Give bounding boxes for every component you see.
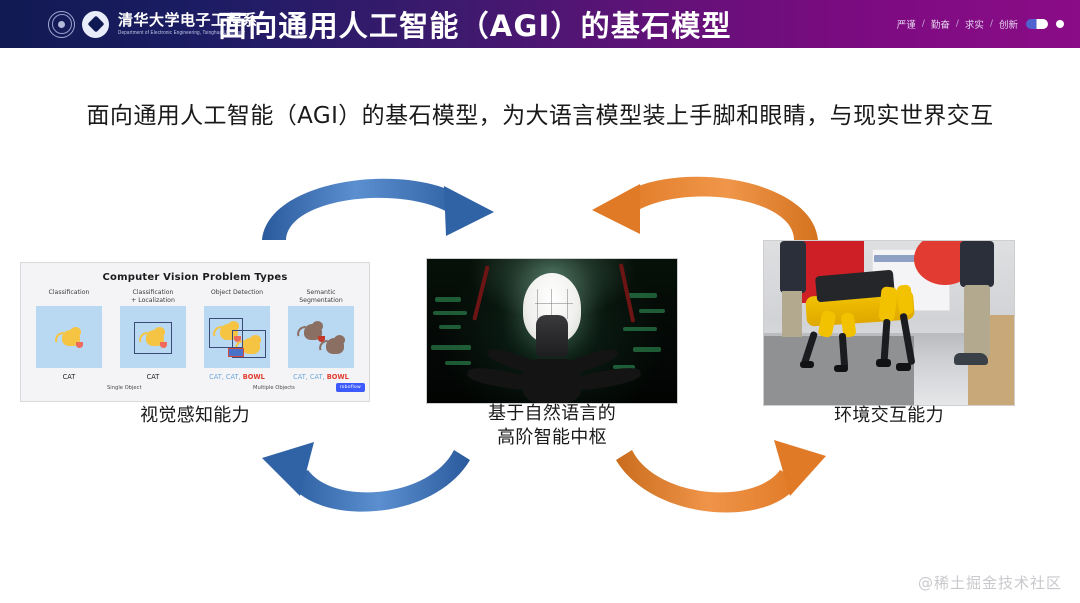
caption-brain-line1: 基于自然语言的: [452, 402, 652, 426]
cv-column-label: Classification: [49, 289, 90, 306]
cv-column-label: Object Detection: [211, 289, 263, 306]
cv-column-label: SemanticSegmentation: [299, 289, 343, 306]
cv-sample-image: [120, 306, 186, 368]
cv-column-semantic-segmentation: SemanticSegmentation CAT, CAT, BOWL: [283, 289, 359, 381]
cv-group-label-single: Single Object: [107, 385, 142, 391]
cv-column-classification-localization: Classification+ Localization CAT: [115, 289, 191, 381]
toggle-pill-icon: [1026, 19, 1048, 29]
robot-dog-foot: [834, 365, 848, 372]
cv-sample-image: [288, 306, 354, 368]
caption-vision: 视觉感知能力: [95, 404, 295, 428]
slide-subtitle: 面向通用人工智能（AGI）的基石模型，为大语言模型装上手脚和眼睛，与现实世界交互: [0, 96, 1080, 130]
bystander-legs: [964, 285, 990, 357]
head-seam: [567, 289, 568, 319]
dot-icon: [1056, 20, 1064, 28]
arrow-top-left-to-center: [262, 179, 494, 240]
bounding-box-bowl: [228, 348, 244, 357]
cat-illustration: [318, 334, 348, 358]
slide-header: 清华大学电子工程系 Department of Electronic Engin…: [0, 0, 1080, 48]
decor-circuit: [435, 297, 461, 302]
cv-column-result: CAT, CAT, BOWL: [293, 373, 349, 381]
cv-column-result: CAT: [147, 373, 160, 381]
bounding-box: [134, 322, 172, 354]
robot-dog-image: [763, 240, 1015, 406]
cv-column-result: CAT, CAT, BOWL: [209, 373, 265, 381]
header-decoration: [1026, 0, 1064, 48]
bystander-torso: [960, 241, 994, 287]
motto-group: 严谨 / 勤奋 / 求实 / 创新: [897, 0, 1018, 48]
slide: 清华大学电子工程系 Department of Electronic Engin…: [0, 0, 1080, 603]
decor-circuit: [433, 311, 467, 315]
caption-brain-line2: 高阶智能中枢: [452, 426, 652, 450]
bystander-shoe: [954, 353, 988, 365]
motto-separator-2: /: [956, 19, 959, 29]
motto-separator-3: /: [990, 19, 993, 29]
robot-dog-thigh: [896, 284, 913, 315]
robot-dog-foot: [876, 359, 891, 367]
cat-illustration: [54, 326, 84, 350]
decor-circuit: [627, 293, 657, 298]
cv-group-label-multiple: Multiple Objects: [253, 385, 295, 391]
cv-figure-footer: Single Object Multiple Objects roboflow: [21, 383, 369, 402]
cv-columns: Classification CAT Classification+ Local…: [21, 289, 369, 381]
robot-dog-foot: [896, 363, 911, 371]
cv-column-result: CAT: [63, 373, 76, 381]
motto-separator-1: /: [922, 19, 925, 29]
decor-circuit: [431, 345, 471, 350]
motto-item-3: 求实: [965, 17, 984, 31]
decor-circuit: [633, 347, 661, 352]
vision-figure-image: Computer Vision Problem Types Classifica…: [20, 262, 370, 402]
decor-circuit: [445, 361, 471, 365]
roboflow-badge: roboflow: [336, 383, 365, 392]
bystander-torso: [780, 241, 806, 293]
motto-item-2: 勤奋: [931, 17, 950, 31]
arrow-top-center-to-right: [592, 177, 818, 240]
ai-brain-image: [426, 258, 678, 404]
arrow-bottom-right-to-center: [616, 440, 826, 512]
head-seam: [537, 289, 538, 319]
cv-figure-title: Computer Vision Problem Types: [21, 272, 369, 283]
motto-item-4: 创新: [999, 17, 1018, 31]
decor-circuit: [439, 325, 461, 329]
caption-robot: 环境交互能力: [789, 404, 989, 428]
caption-brain: 基于自然语言的 高阶智能中枢: [452, 402, 652, 450]
robot-dog-foot: [800, 361, 814, 368]
android-face: [536, 315, 568, 357]
tsinghua-seal-icon: [48, 11, 75, 38]
cable-tentacle: [523, 359, 581, 403]
decor-circuit: [639, 309, 665, 313]
motto-item-1: 严谨: [897, 17, 916, 31]
cv-column-object-detection: Object Detection CAT, CAT, BOWL: [199, 289, 275, 381]
cv-sample-image: [36, 306, 102, 368]
watermark: @稀土掘金技术社区: [918, 572, 1062, 593]
department-emblem-icon: [82, 11, 109, 38]
page-title: 面向通用人工智能（AGI）的基石模型: [218, 0, 818, 48]
bystander-legs: [782, 291, 802, 337]
cv-sample-image: [204, 306, 270, 368]
decor-circuit: [623, 327, 657, 331]
cv-column-classification: Classification CAT: [31, 289, 107, 381]
arrow-bottom-center-to-left: [262, 442, 470, 512]
cv-column-label: Classification+ Localization: [131, 289, 175, 306]
